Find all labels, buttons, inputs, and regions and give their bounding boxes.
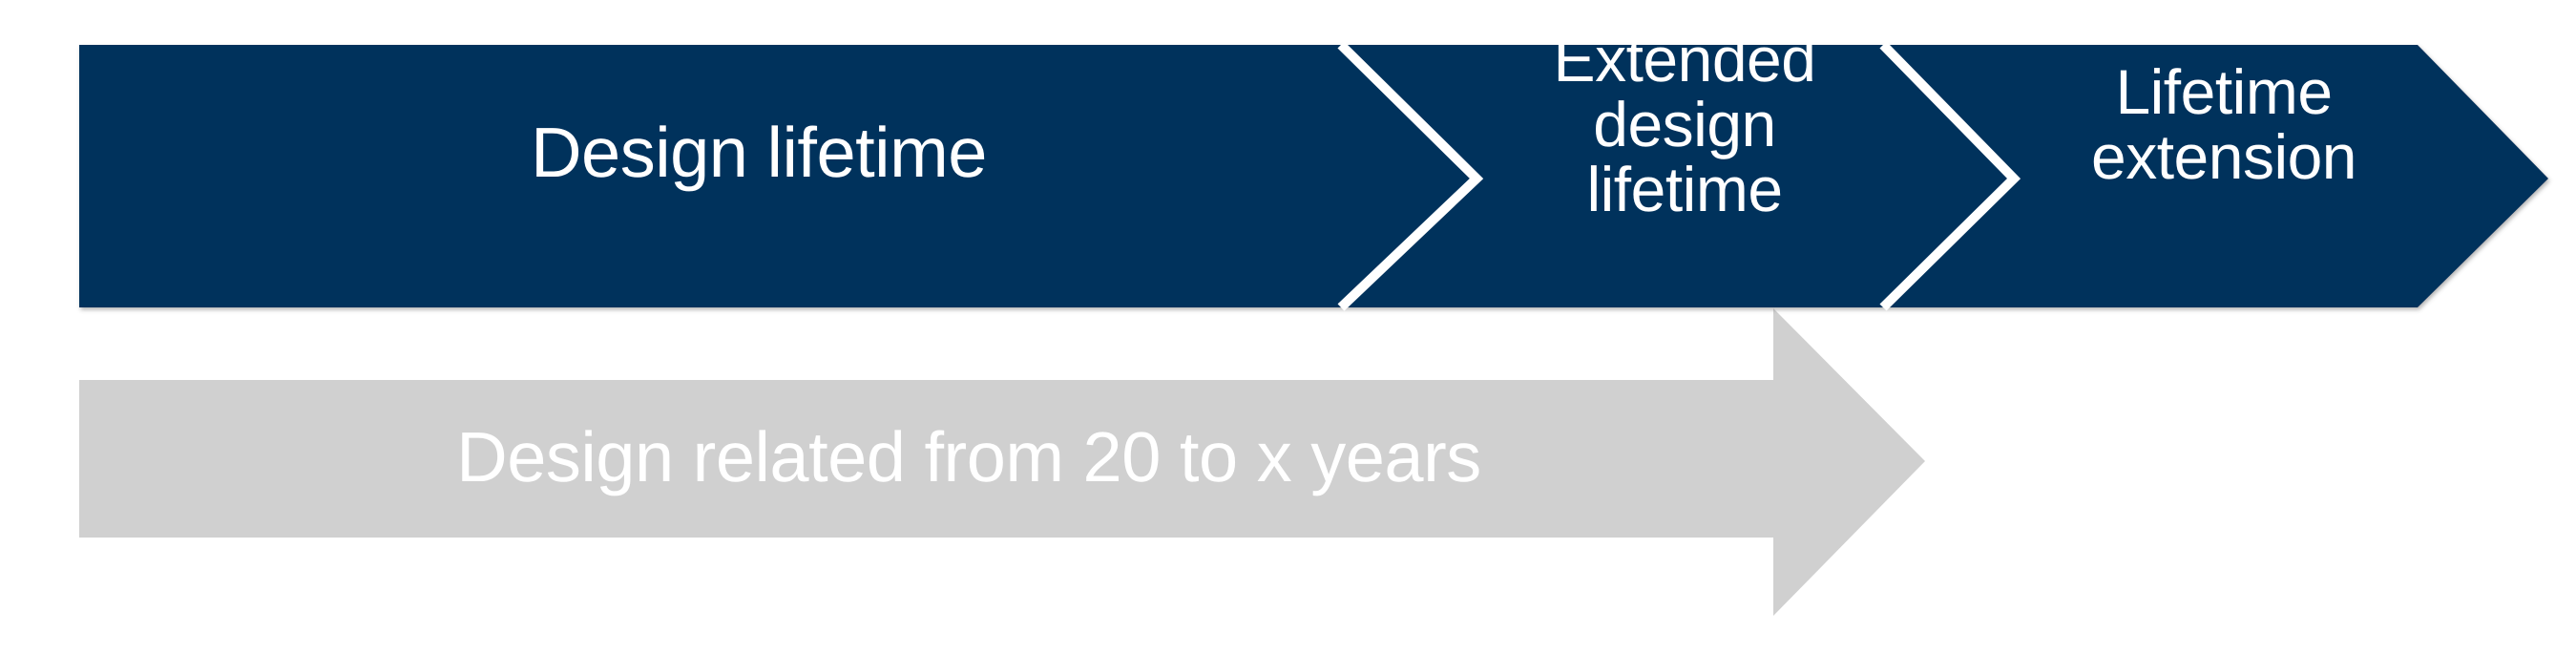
process-arrow-shape: [79, 45, 2548, 307]
diagram-canvas: Design lifetime Extended design lifetime…: [0, 0, 2576, 654]
process-arrow-polygon: [79, 45, 2548, 307]
underlay-arrow-polygon: [79, 308, 1925, 616]
underlay-arrow-shape: [79, 308, 1925, 616]
process-diagram-graphic: [0, 0, 2576, 654]
